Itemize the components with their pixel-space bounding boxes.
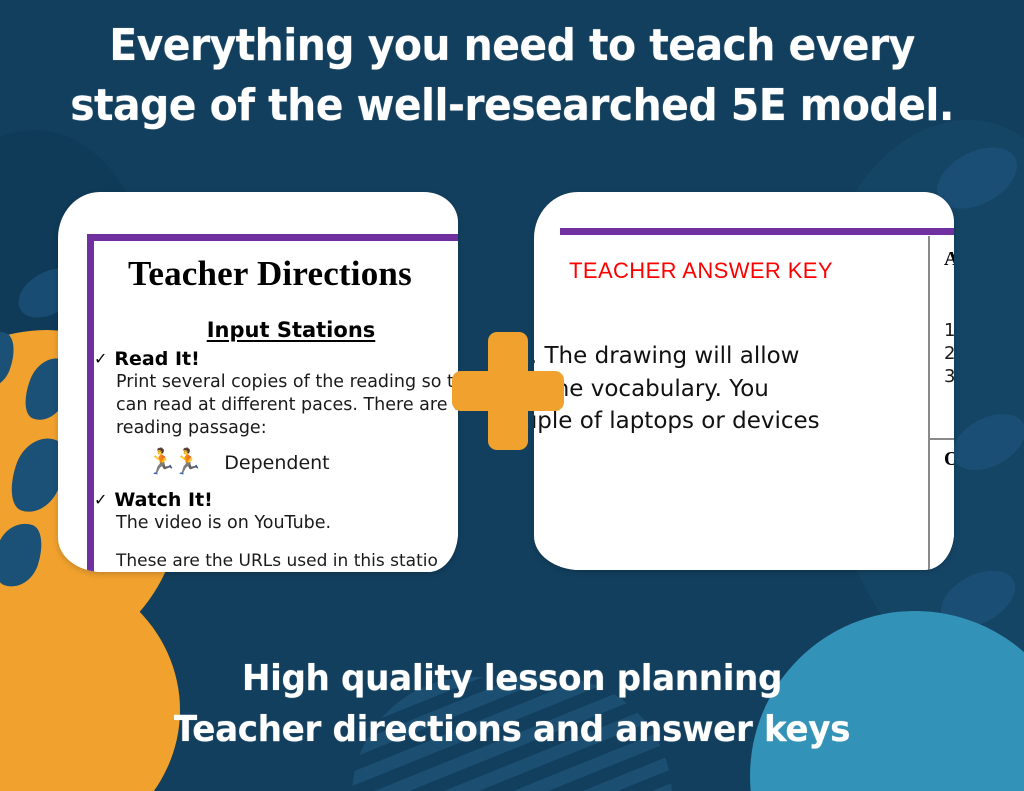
check-icon: ✓ (94, 352, 107, 368)
list-item: 2. (944, 342, 954, 365)
answer-key-body-line: ary. The drawing will allow (534, 340, 820, 373)
answer-key-body: ary. The drawing will allow s to the voc… (534, 340, 820, 471)
reading-level-row: 🏃🏃 Dependent (146, 450, 458, 475)
answer-key-body-line: ch. (534, 438, 820, 471)
reading-level-label: Dependent (224, 452, 329, 474)
answer-key-card[interactable]: TEACHER ANSWER KEY ary. The drawing will… (534, 192, 954, 570)
urls-intro: These are the URLs used in this statio (116, 551, 458, 571)
bullet-body-line: Print several copies of the reading so t… (116, 371, 458, 393)
answer-key-side-column: As 1. 2. 3. On (928, 236, 954, 570)
slide-canvas: Everything you need to teach every stage… (0, 0, 1024, 791)
teardrop-shape (0, 325, 21, 395)
answer-key-body-line: s to the vocabulary. You (534, 373, 820, 406)
list-item: 1. (944, 319, 954, 342)
bottom-caption: High quality lesson planning Teacher dir… (26, 653, 999, 755)
plus-icon (452, 332, 564, 450)
headline: Everything you need to teach every stage… (36, 16, 988, 136)
section-heading: Input Stations (94, 318, 458, 342)
teacher-directions-card[interactable]: Teacher Directions Input Stations ✓ Read… (58, 192, 458, 572)
answer-key-content: TEACHER ANSWER KEY ary. The drawing will… (534, 192, 954, 570)
side-column-heading: As (944, 248, 954, 271)
headline-line-2: stage of the well-researched 5E model. (36, 76, 988, 136)
decorative-ellipse (943, 402, 1024, 481)
bullet-body-line: can read at different paces. There are t (116, 394, 458, 416)
doc-title: Teacher Directions (128, 254, 458, 294)
check-icon: ✓ (94, 493, 107, 509)
headline-line-1: Everything you need to teach every (109, 20, 915, 71)
bullet-read-it: ✓ Read It! (94, 348, 458, 370)
list-item: 3. (944, 365, 954, 388)
plus-horizontal-bar (452, 371, 564, 411)
bottom-caption-line-2: Teacher directions and answer keys (26, 704, 999, 755)
bullet-title: Read It! (114, 348, 199, 370)
runners-icon: 🏃🏃 (146, 450, 198, 475)
teardrop-shape (0, 517, 49, 593)
answer-key-label: TEACHER ANSWER KEY (534, 258, 868, 284)
bullet-title: Watch It! (114, 489, 212, 511)
decorative-ellipse (931, 559, 1024, 639)
side-column-divider (930, 438, 954, 440)
answer-key-body-line: couple of laptops or devices (534, 405, 820, 438)
bullet-watch-it: ✓ Watch It! (94, 489, 458, 511)
bottom-caption-line-1: High quality lesson planning (26, 653, 999, 704)
side-column-heading-2: On (944, 448, 954, 471)
side-column-list: 1. 2. 3. (944, 319, 954, 388)
bullet-body-line: The video is on YouTube. (116, 512, 458, 534)
teacher-directions-content: Teacher Directions Input Stations ✓ Read… (94, 240, 458, 572)
bullet-body-line: reading passage: (116, 417, 458, 439)
